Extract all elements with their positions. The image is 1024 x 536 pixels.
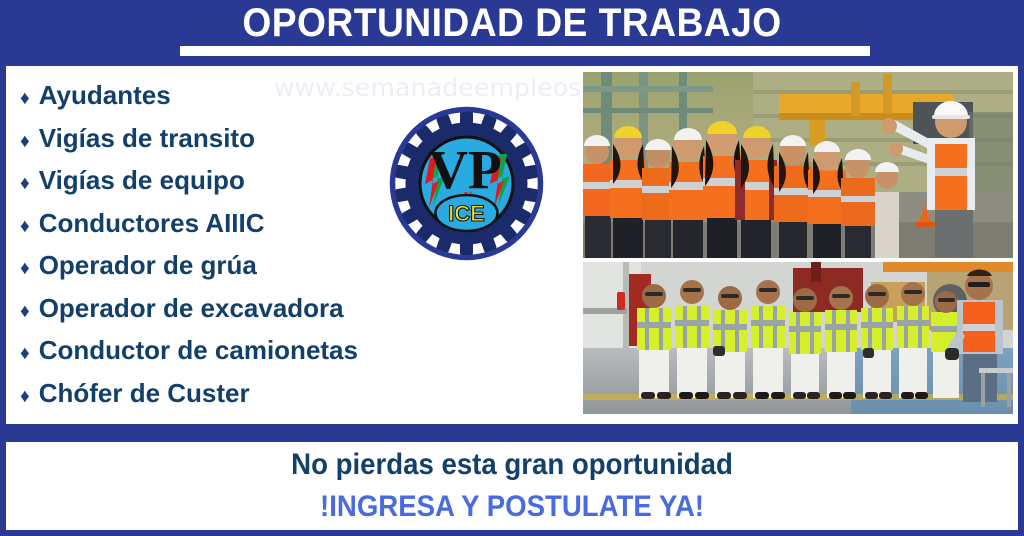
diamond-bullet-icon: ♦ xyxy=(20,250,30,289)
diamond-bullet-icon: ♦ xyxy=(20,123,30,162)
job-title: Chófer de Custer xyxy=(39,374,250,413)
photo-bottom-illustration xyxy=(583,262,1013,414)
diamond-bullet-icon: ♦ xyxy=(20,293,30,332)
list-item: ♦ Operador de excavadora xyxy=(20,289,580,332)
list-item: ♦ Asistente de contros de proyectos xyxy=(20,416,580,424)
diamond-bullet-icon: ♦ xyxy=(20,80,30,119)
section-divider xyxy=(0,424,1024,442)
page-title: OPORTUNIDAD DE TRABAJO xyxy=(36,1,988,45)
job-posting-poster: OPORTUNIDAD DE TRABAJO www.semanadeemple… xyxy=(0,0,1024,536)
job-title: Vigías de equipo xyxy=(39,161,245,200)
list-item: ♦ Chófer de Custer xyxy=(20,374,580,417)
svg-text:ICE: ICE xyxy=(448,201,485,226)
company-logo: VP y ICE xyxy=(389,106,544,261)
content-panel: www.semanadeempleos.com ♦ Ayudantes ♦ Vi… xyxy=(6,66,1018,424)
photo-top-illustration xyxy=(583,72,1013,258)
diamond-bullet-icon: ♦ xyxy=(20,378,30,417)
footer-call-to-action[interactable]: !INGRESA Y POSTULATE YA! xyxy=(46,490,977,524)
job-title: Vigías de transito xyxy=(39,119,255,158)
job-title: Ayudantes xyxy=(39,76,171,115)
diamond-bullet-icon: ♦ xyxy=(20,165,30,204)
job-title: Conductor de camionetas xyxy=(39,331,358,370)
diamond-bullet-icon: ♦ xyxy=(20,208,30,247)
job-title: Asistente de contros de proyectos xyxy=(39,416,465,424)
photo-workers-orange-vests xyxy=(583,72,1013,258)
job-title: Conductores AIIIC xyxy=(39,204,265,243)
job-title: Operador de grúa xyxy=(39,246,257,285)
job-title: Operador de excavadora xyxy=(39,289,344,328)
vp-ice-logo-icon: VP y ICE xyxy=(389,106,544,261)
footer-tagline: No pierdas esta gran oportunidad xyxy=(46,448,977,482)
diamond-bullet-icon: ♦ xyxy=(20,335,30,374)
footer-panel: No pierdas esta gran oportunidad !INGRES… xyxy=(6,442,1018,530)
title-underline xyxy=(180,46,870,56)
photo-workers-yellow-vests xyxy=(583,262,1013,414)
header-band: OPORTUNIDAD DE TRABAJO xyxy=(0,0,1024,62)
list-item: ♦ Conductor de camionetas xyxy=(20,331,580,374)
